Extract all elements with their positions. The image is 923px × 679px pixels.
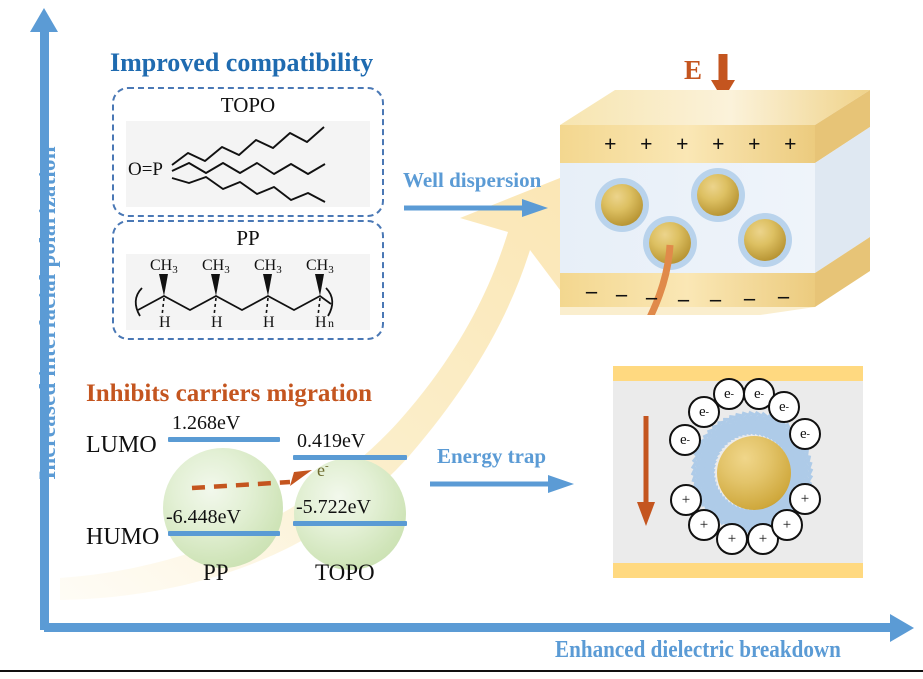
chem-box-topo: TOPO O=P: [112, 87, 384, 217]
energy-label-humo: HUMO: [86, 524, 159, 551]
chem-box-pp: PP CH3 CH3 CH3 CH3 HH HH n: [112, 220, 384, 340]
svg-text:H: H: [211, 314, 223, 330]
energy-level-pp-lumo: [168, 437, 280, 442]
arrow-label-energy-trap: Energy trap: [437, 444, 546, 469]
svg-text:CH3: CH3: [202, 257, 230, 276]
x-axis-arrowhead: [890, 614, 914, 642]
trap-positive-charge: +: [789, 483, 821, 515]
energy-level-pp-humo: [168, 531, 280, 536]
x-axis-arrow: [44, 623, 899, 632]
figure-canvas: Increased interfacial polarization Enhan…: [0, 0, 923, 679]
svg-text:H: H: [159, 314, 171, 330]
electron-transfer-arrow: [190, 460, 325, 500]
chem-box-topo-title: TOPO: [114, 93, 382, 118]
svg-text:H: H: [315, 314, 327, 330]
trap-core-particle: [717, 436, 791, 510]
trap-field-arrow: [633, 416, 659, 528]
energy-label-lumo: LUMO: [86, 432, 157, 459]
x-axis-label: Enhanced dielectric breakdown: [555, 637, 841, 664]
electron-label: e-: [317, 460, 329, 481]
energy-material-name-topo: TOPO: [315, 560, 375, 586]
arrow-label-well-dispersion: Well dispersion: [403, 168, 541, 193]
y-axis-arrowhead: [30, 8, 58, 32]
capacitor-block: [560, 85, 870, 315]
heading-improved-compatibility: Improved compatibility: [110, 48, 373, 78]
trap-bottom-electrode: [613, 563, 863, 578]
svg-text:H: H: [263, 314, 275, 330]
well-dispersion-arrow: [402, 196, 552, 220]
trap-electron: e-: [768, 391, 800, 423]
svg-text:CH3: CH3: [150, 257, 178, 276]
chem-box-pp-title: PP: [114, 226, 382, 251]
energy-value-topo-lumo: 0.419eV: [297, 430, 365, 453]
energy-trap-panel: e- e- e- e- e- e- + + + + + +: [613, 366, 863, 578]
trap-top-electrode: [613, 366, 863, 381]
topo-op-label: O=P: [128, 159, 163, 180]
trap-electron: e-: [789, 418, 821, 450]
figure-bottom-rule: [0, 670, 923, 672]
svg-text:n: n: [328, 316, 334, 330]
energy-value-pp-humo: -6.448eV: [166, 506, 241, 529]
heading-inhibits-carriers-migration: Inhibits carriers migration: [86, 380, 372, 408]
svg-text:CH3: CH3: [254, 257, 282, 276]
energy-level-topo-humo: [293, 521, 407, 526]
energy-material-name-pp: PP: [203, 560, 229, 586]
y-axis-label: Increased interfacial polarization: [35, 73, 61, 553]
trap-positive-charge: +: [716, 523, 748, 555]
energy-value-pp-lumo: 1.268eV: [172, 412, 240, 435]
energy-trap-arrow: [428, 472, 578, 496]
chem-box-pp-canvas: CH3 CH3 CH3 CH3 HH HH n: [126, 254, 370, 330]
trap-electron: e-: [688, 396, 720, 428]
svg-text:CH3: CH3: [306, 257, 334, 276]
trap-electron: e-: [669, 424, 701, 456]
field-label-E: E: [684, 55, 702, 86]
chem-box-topo-canvas: O=P: [126, 121, 370, 207]
